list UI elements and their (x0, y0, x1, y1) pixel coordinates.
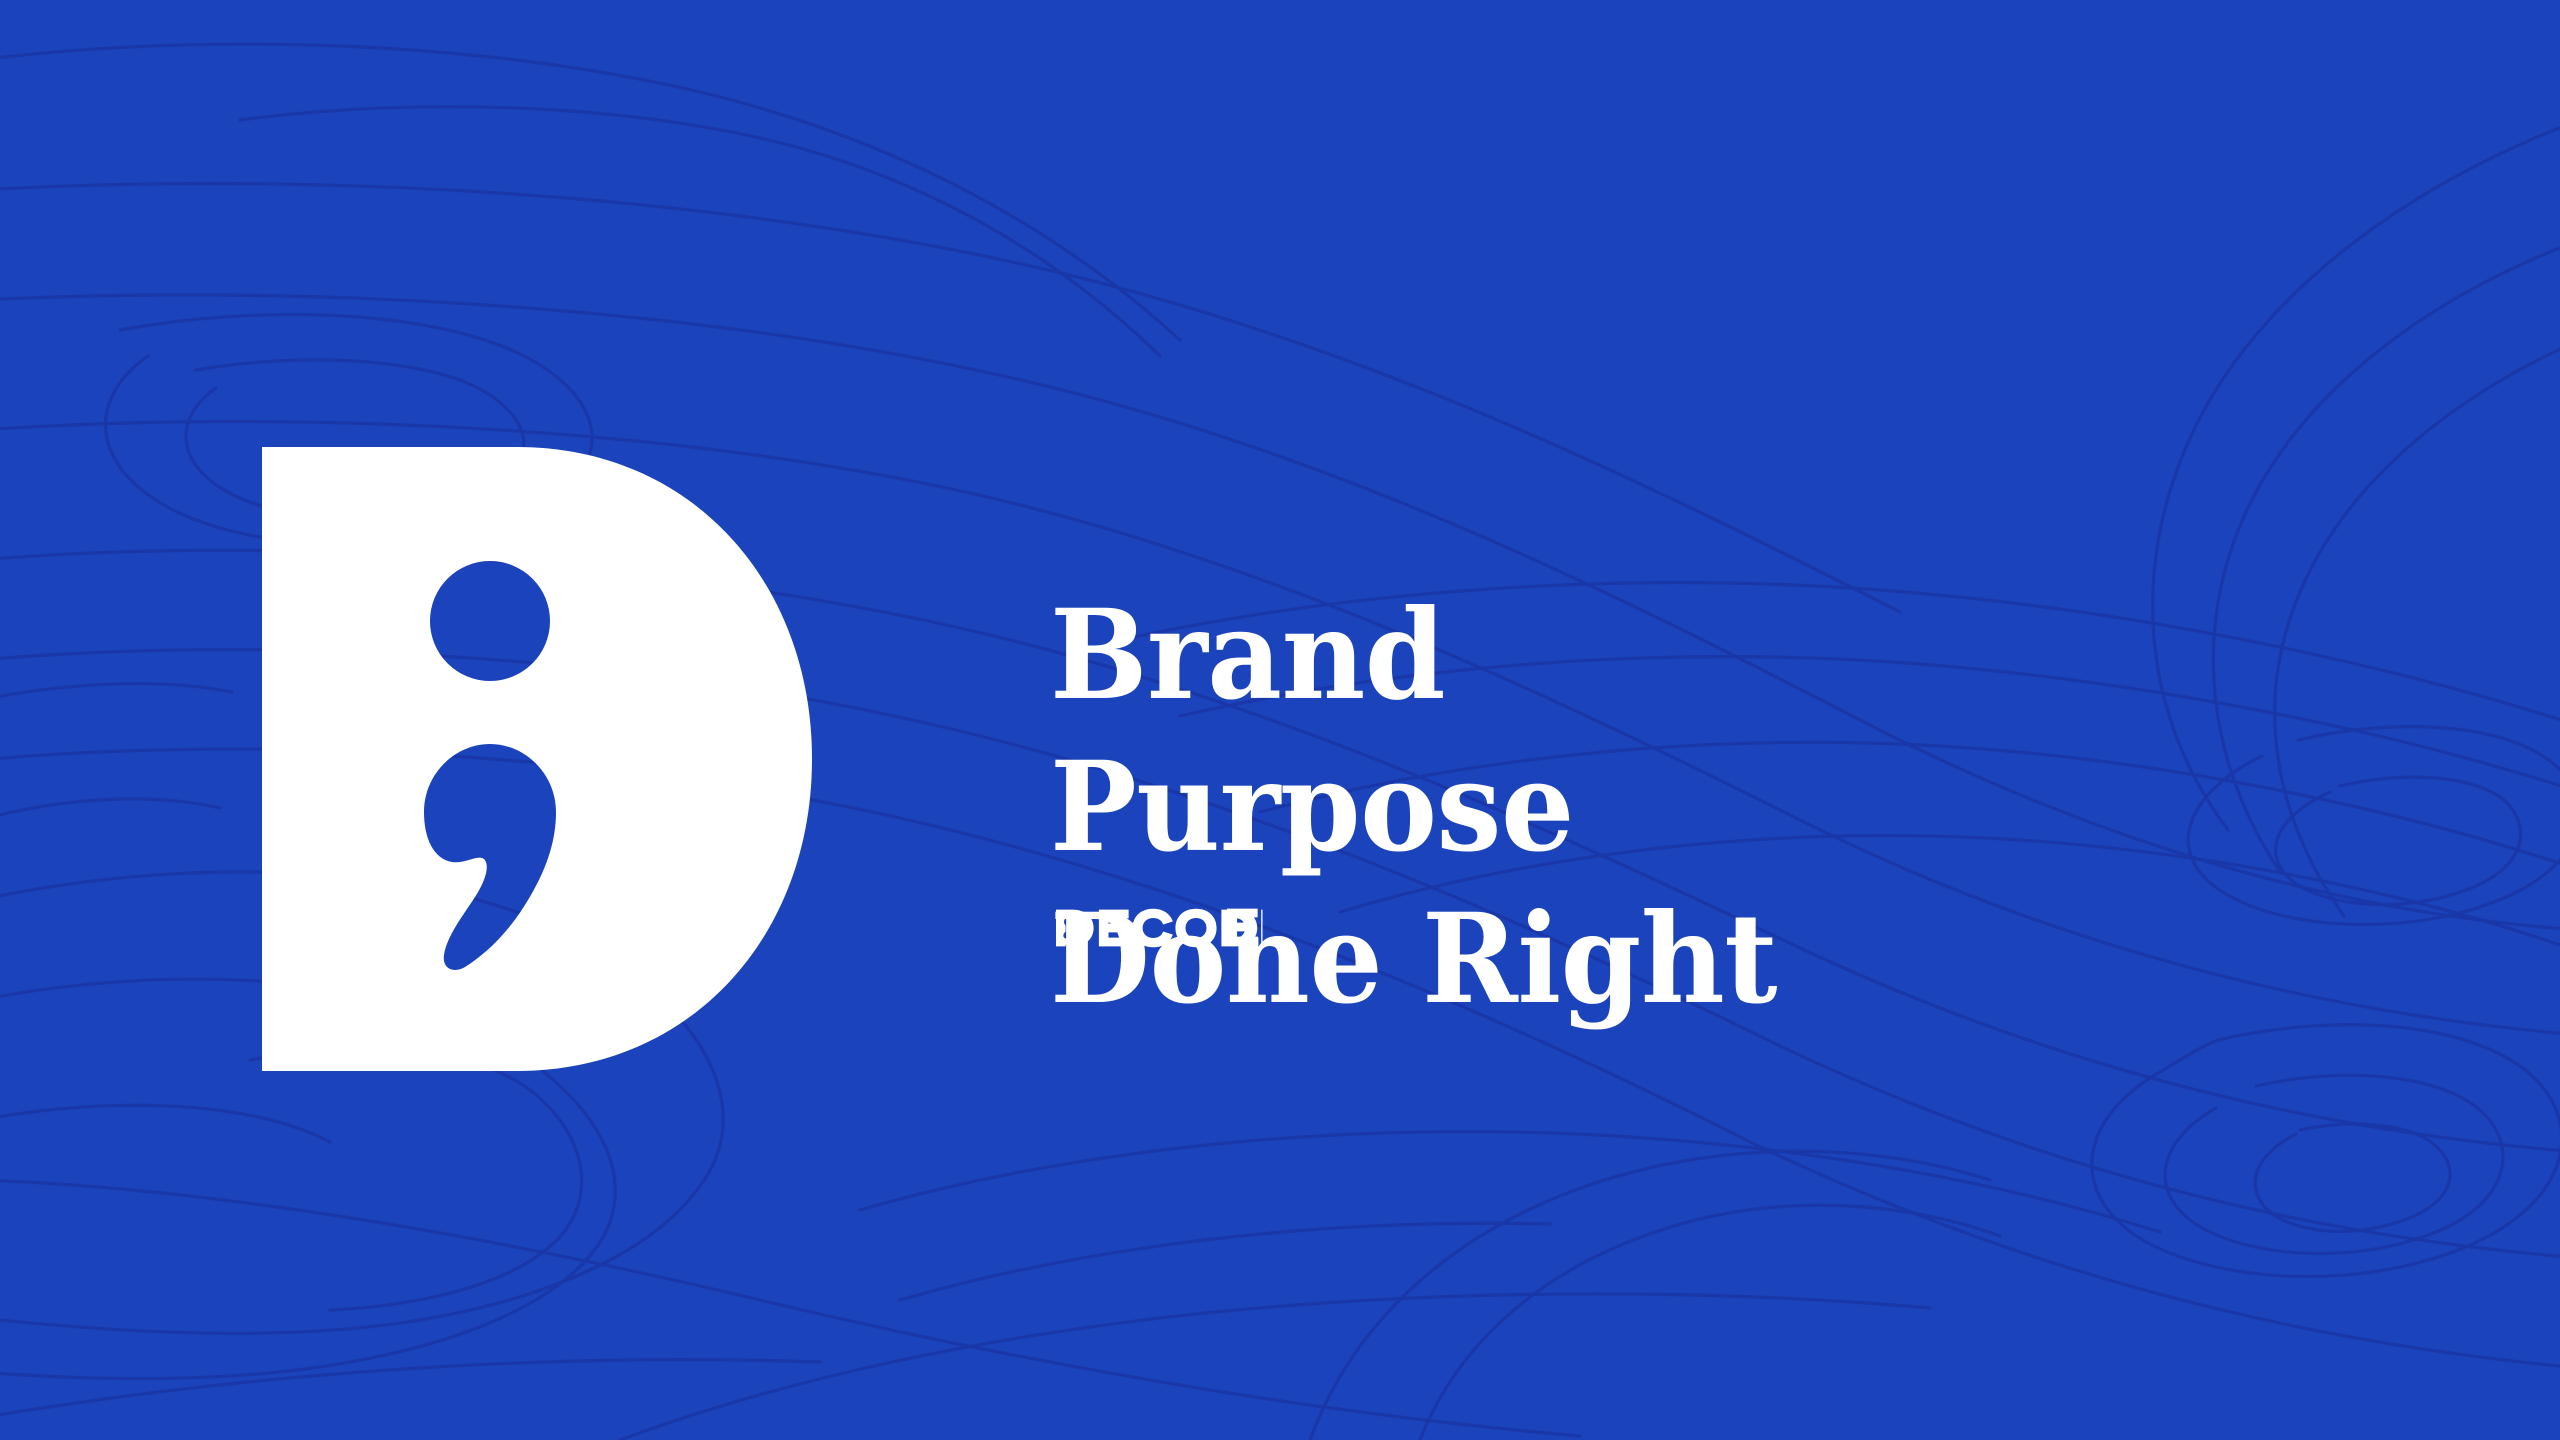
page-title: Brand Purpose Done Right (1050, 580, 1980, 1036)
decode-logo-mark (262, 447, 812, 1071)
title-slide: Brand Purpose Done Right (0, 0, 2560, 1440)
decode-wordmark-last-letter (1227, 906, 1267, 948)
